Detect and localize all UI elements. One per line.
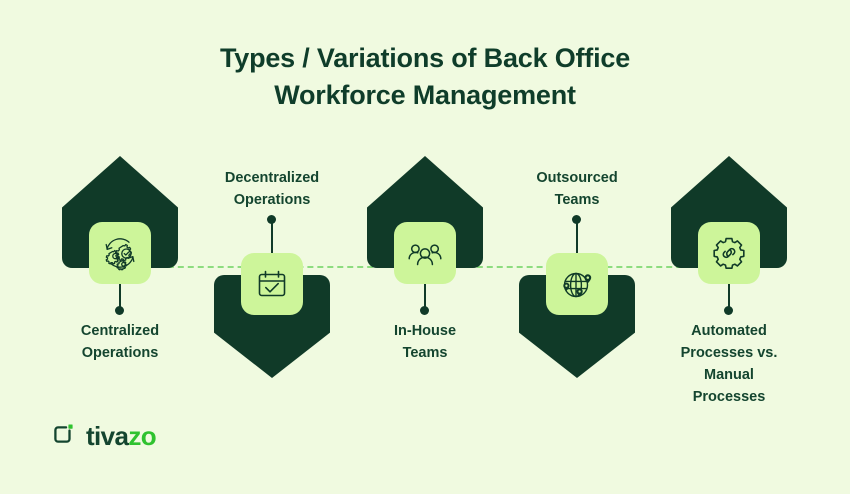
marker-label-automated-vs-manual-processes: Automated Processes vs. Manual Processes <box>634 320 824 408</box>
globe-pins-icon <box>546 253 608 315</box>
connector-stem <box>576 219 578 253</box>
connector-stem <box>728 284 730 308</box>
people-group-icon <box>394 222 456 284</box>
gears-cycle-icon <box>89 222 151 284</box>
connector-stem <box>119 284 121 308</box>
connector-dot <box>115 306 124 315</box>
gear-link-icon <box>698 222 760 284</box>
brand-logo[interactable]: tivazo <box>50 420 156 452</box>
connector-dot <box>267 215 276 224</box>
connector-stem <box>271 219 273 253</box>
infographic-canvas: Types / Variations of Back Office Workfo… <box>0 0 850 494</box>
connector-dot <box>420 306 429 315</box>
connector-stem <box>424 284 426 308</box>
brand-logo-text-accent: zo <box>128 421 156 451</box>
bracket-square-icon <box>50 420 77 452</box>
marker-automated-vs-manual-processes[interactable]: Automated Processes vs. Manual Processes <box>639 0 819 494</box>
brand-logo-text: tivazo <box>86 423 156 449</box>
brand-logo-text-primary: tiva <box>86 421 128 451</box>
connector-dot <box>572 215 581 224</box>
calendar-check-icon <box>241 253 303 315</box>
connector-dot <box>724 306 733 315</box>
